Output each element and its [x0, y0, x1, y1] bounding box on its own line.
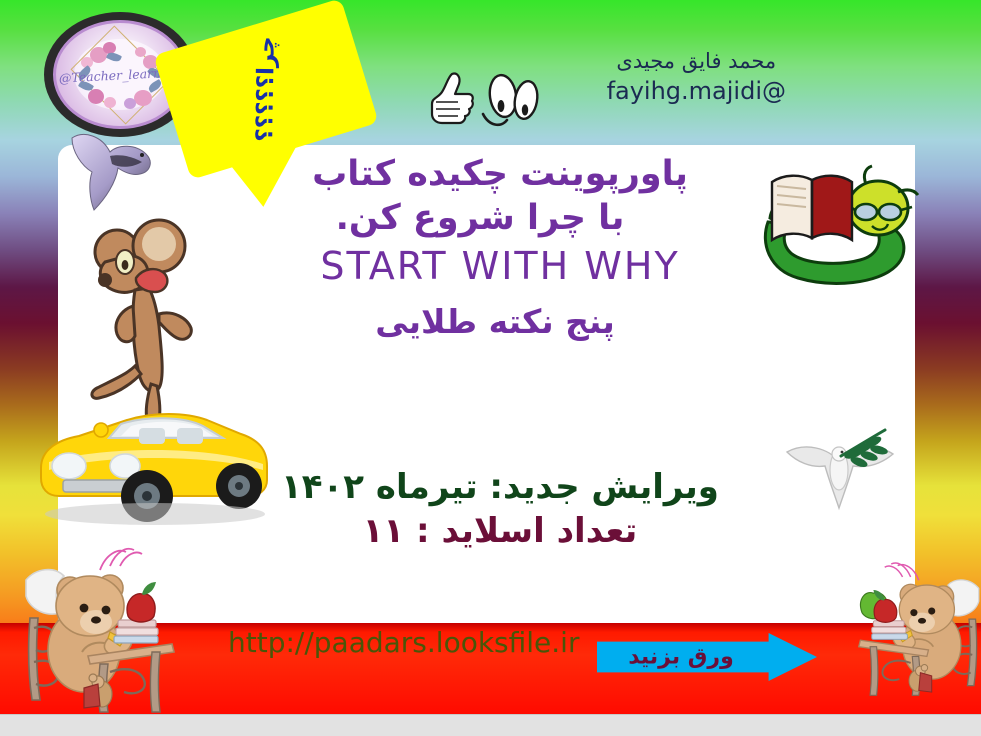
site-url[interactable]: http://paadars.looksfile.ir — [228, 626, 579, 659]
title-line-3: پنج نکته طلایی — [250, 302, 750, 341]
author-handle: fayihg.majidi@ — [607, 76, 786, 108]
teddy-bear-desk-left-icon — [22, 532, 207, 716]
bubble-label: چرا؟؟؟؟؟ — [252, 36, 280, 142]
author-name: محمد فایق مجیدی — [607, 48, 786, 76]
next-page-button[interactable]: ورق بزنید — [597, 633, 817, 681]
teddy-right-svg — [832, 532, 981, 716]
edition-line-1: ویرایش جدید: تیرماه ۱۴۰۲ — [250, 466, 750, 510]
edition-info-block: ویرایش جدید: تیرماه ۱۴۰۲ تعداد اسلاید : … — [250, 466, 750, 553]
edition-line-2: تعداد اسلاید : ۱۱ — [250, 510, 750, 554]
teddy-left-svg — [22, 532, 207, 716]
flying-dove-svg — [62, 122, 168, 230]
presentation-slide: محمد فایق مجیدی fayihg.majidi@ — [0, 0, 981, 736]
author-credit: محمد فایق مجیدی fayihg.majidi@ — [607, 48, 786, 107]
thumbs-up-svg — [424, 68, 476, 134]
flower-icon — [134, 90, 152, 106]
flower-icon — [124, 98, 136, 109]
flower-icon — [88, 89, 104, 104]
slide-title-block: پاورپوینت چکیده کتاب با چرا شروع کن. STA… — [250, 152, 750, 341]
next-page-label: ورق بزنید — [597, 645, 765, 670]
title-line-2: با چرا شروع کن. — [250, 196, 750, 240]
dove-with-olive-branch-icon — [775, 418, 905, 514]
flower-icon — [135, 47, 146, 57]
flying-dove-icon — [62, 122, 168, 230]
bookworm-svg — [750, 162, 920, 292]
cartoon-eyes-icon — [481, 68, 543, 134]
cartoon-eyes-svg — [481, 68, 543, 134]
flower-icon — [104, 97, 116, 108]
dove-olive-svg — [775, 418, 905, 514]
bottom-strip — [0, 714, 981, 736]
bookworm-reading-icon — [750, 162, 920, 292]
logo-face: @Teacher_learning — [74, 39, 166, 110]
teddy-bear-desk-right-icon — [832, 532, 981, 716]
title-line-english: START WITH WHY — [250, 244, 750, 288]
thumbs-up-icon — [424, 68, 476, 134]
mouse-on-convertible-icon — [35, 218, 275, 530]
mouse-car-svg — [35, 218, 275, 530]
title-line-1: پاورپوینت چکیده کتاب — [250, 152, 750, 196]
